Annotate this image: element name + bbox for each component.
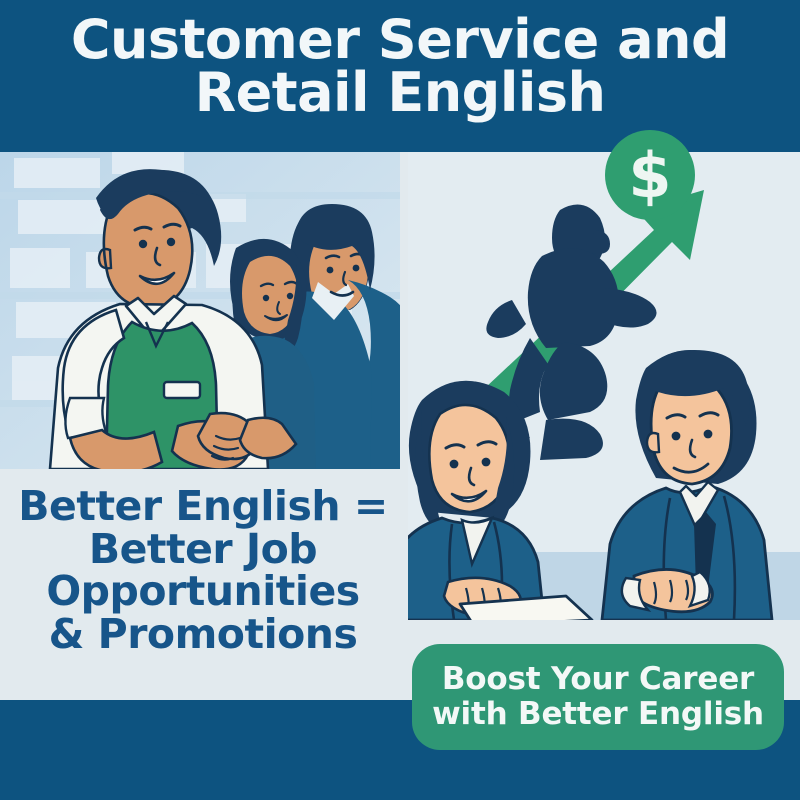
tagline-text: Better English = Better Job Opportunitie… — [8, 485, 398, 656]
page-title: Customer Service and Retail English — [0, 14, 800, 120]
cta-label: Boost Your Career with Better English — [432, 662, 764, 731]
svg-text:$: $ — [628, 139, 671, 212]
poster-canvas: Customer Service and Retail English $ Be… — [0, 0, 800, 800]
dollar-coin-icon: $ — [604, 129, 696, 221]
retail-handshake-scene — [0, 152, 400, 469]
boost-career-cta-button[interactable]: Boost Your Career with Better English — [412, 644, 784, 750]
right-illustration-panel — [408, 152, 800, 620]
left-illustration-panel — [0, 152, 400, 469]
career-growth-scene — [408, 152, 800, 620]
